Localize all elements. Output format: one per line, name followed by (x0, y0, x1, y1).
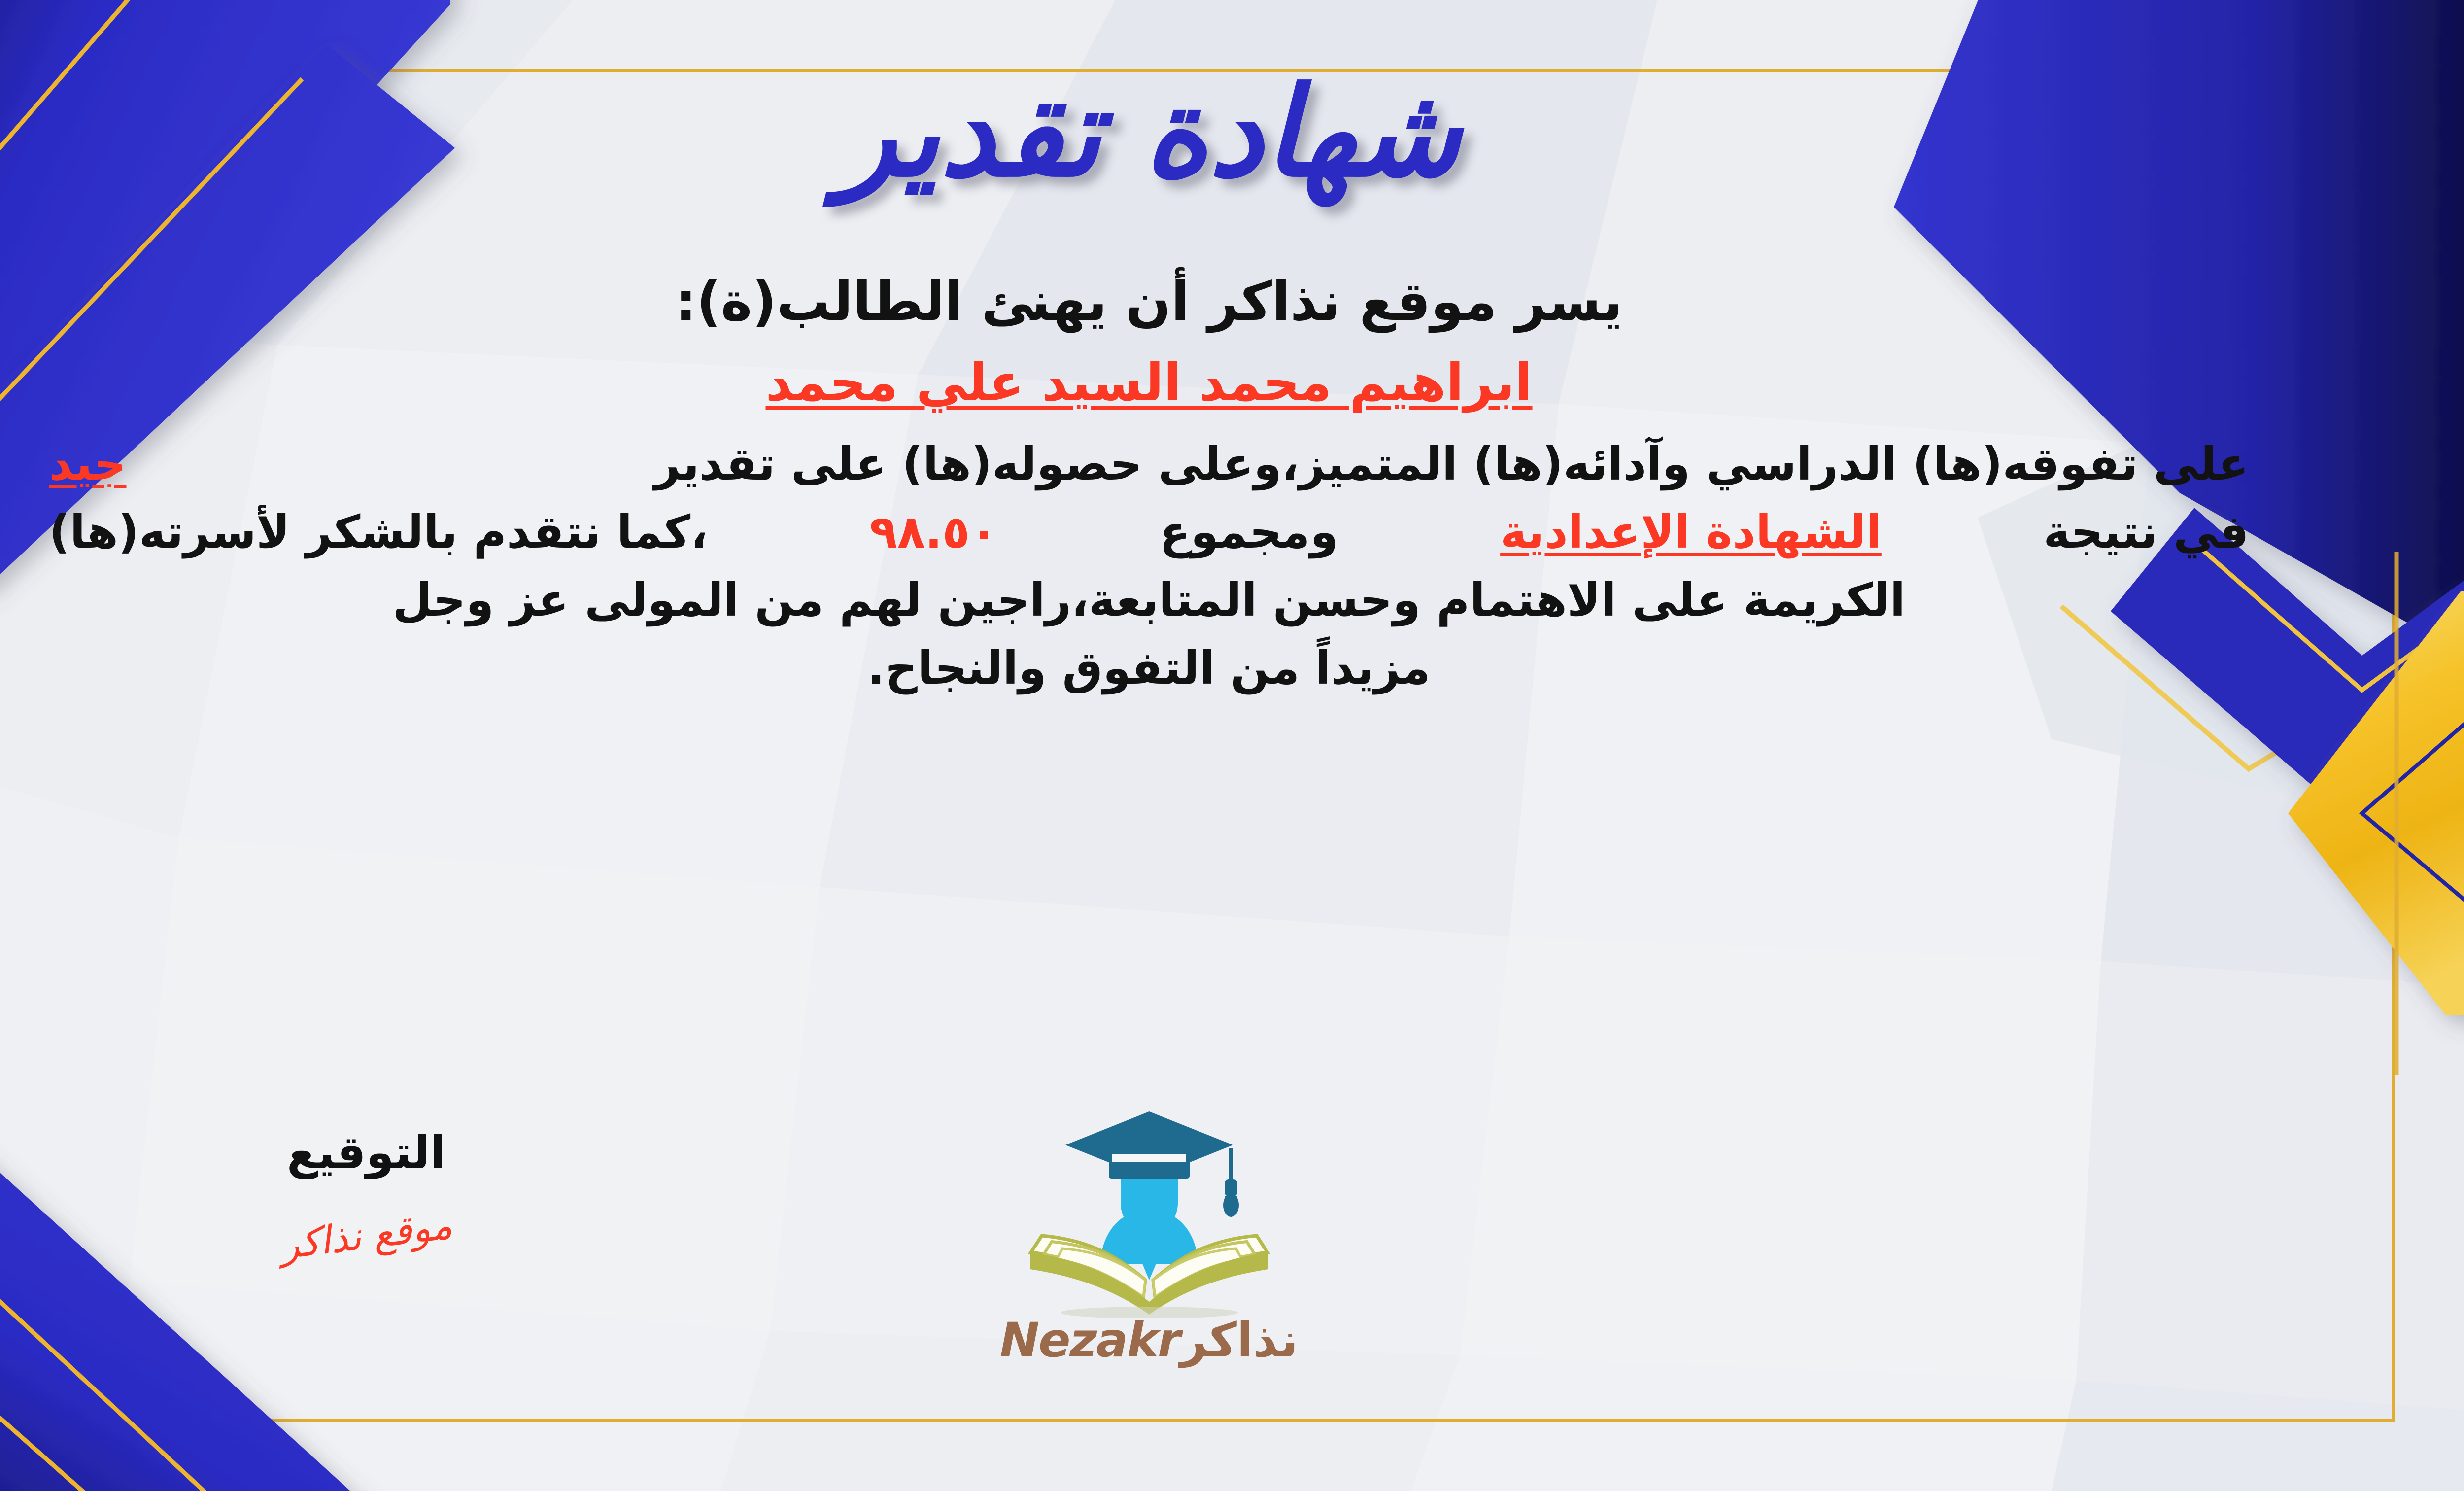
thanks-clause: ،كما نتقدم بالشكر لأسرته(ها) (49, 498, 708, 566)
logo-name-ar: نذاكر (1180, 1313, 1298, 1368)
body-paragraph: على تفوقه(ها) الدراسي وآدائه(ها) المتميز… (40, 430, 2258, 702)
signature-script: موقع نذاكر (278, 1203, 455, 1268)
body-line-1: على تفوقه(ها) الدراسي وآدائه(ها) المتميز… (40, 430, 2258, 498)
certificate-title-text: شهادة تقدير (822, 61, 1466, 208)
logo-wordmark: نذاكرNezakr (1000, 1313, 1298, 1368)
certificate-footer: التوقيع موقع نذاكر (0, 1107, 2464, 1412)
body-line-3: الكريمة على الاهتمام وحسن المتابعة،راجين… (393, 566, 1906, 634)
signature-label: التوقيع (179, 1126, 553, 1179)
graduation-student-open-book-icon (1011, 1107, 1287, 1318)
student-name: ابراهيم محمد السيد علي محمد (765, 352, 1532, 413)
total-label: ومجموع (1160, 498, 1338, 566)
body-line-3-text: الكريمة على الاهتمام وحسن المتابعة،راجين… (393, 566, 1906, 634)
logo-name-en: Nezakr (1000, 1313, 1180, 1368)
signature-block: التوقيع موقع نذاكر (179, 1126, 553, 1258)
body-line-2: في نتيجة الشهادة الإعدادية ومجموع ٩٨.٥٠ … (40, 498, 2258, 566)
body-line-4: مزيداً من التفوق والنجاح. (868, 634, 1431, 702)
body-line-1-text: على تفوقه(ها) الدراسي وآدائه(ها) المتميز… (654, 430, 2249, 498)
brand-logo: نذاكرNezakr (947, 1107, 1351, 1402)
certificate-title: شهادة تقدير (509, 59, 1790, 222)
result-prefix: في نتيجة (2043, 498, 2249, 566)
intro-line: يسر موقع نذاكر أن يهنئ الطالب(ة): (675, 271, 1623, 333)
certificate-stage: الشهادة الإعدادية (1500, 498, 1882, 566)
certificate-canvas: شهادة تقدير يسر موقع نذاكر أن يهنئ الطال… (0, 0, 2464, 1491)
body-line-4-text: مزيداً من التفوق والنجاح. (868, 634, 1431, 702)
grade-value: جيد (49, 430, 127, 498)
total-value: ٩٨.٥٠ (870, 498, 998, 566)
